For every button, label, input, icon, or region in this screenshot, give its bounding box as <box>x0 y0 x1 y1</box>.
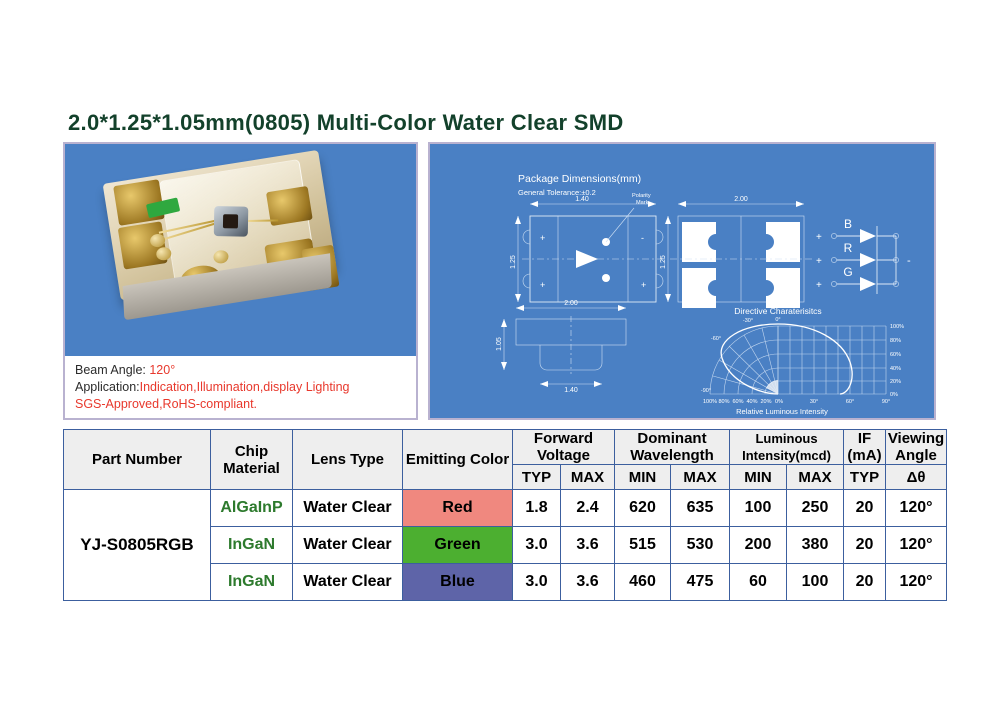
polar-angle-90: 90° <box>882 399 890 405</box>
subheader-if-typ: TYP <box>844 465 886 490</box>
polar-chart-xlabel: Relative Luminous Intensity <box>736 407 828 416</box>
cell-chip-material: InGaN <box>211 564 293 601</box>
cell-viewing-angle: 120° <box>886 564 947 601</box>
cell-dominant-wavelength-max: 530 <box>671 527 730 564</box>
polar-angle-60: 60° <box>846 399 854 405</box>
polar-pct-right-60: 60% <box>890 352 901 358</box>
subheader-li-min: MIN <box>730 465 787 490</box>
caption-beam-angle-label: Beam Angle: <box>75 363 149 377</box>
minus-mark-tr: - <box>641 233 644 243</box>
header-chip-material: Chip Material <box>211 430 293 490</box>
polarity-note-line2: Mark <box>636 200 649 206</box>
anode-plus-b: + <box>816 232 822 243</box>
diode-label-b: B <box>844 217 852 231</box>
header-viewing-angle: Viewing Angle <box>886 430 947 465</box>
datasheet-page: 2.0*1.25*1.05mm(0805) Multi-Color Water … <box>0 0 1000 720</box>
cell-viewing-angle: 120° <box>886 527 947 564</box>
cell-dominant-wavelength-min: 515 <box>615 527 671 564</box>
cell-forward-voltage-typ: 3.0 <box>513 564 561 601</box>
cell-part-number: YJ-S0805RGB <box>64 490 211 601</box>
diode-label-g: G <box>843 265 852 279</box>
bottom-view-height-dim: 1.25 <box>660 255 667 269</box>
led-package-image <box>103 150 342 332</box>
polar-pct-bottom-20: 20% <box>760 399 771 405</box>
caption-application-label: Application: <box>75 380 140 394</box>
table-header-row-1: Part Number Chip Material Lens Type Emit… <box>64 430 947 465</box>
top-view: + + + - Polarity Mark 1.40 <box>510 193 664 302</box>
header-if-ma: IF (mA) <box>844 430 886 465</box>
polar-pct-right-100: 100% <box>890 324 904 330</box>
side-view: 2.00 1.05 1.40 <box>496 300 626 394</box>
cell-viewing-angle: 120° <box>886 490 947 527</box>
cell-luminous-intensity-min: 60 <box>730 564 787 601</box>
cell-chip-material: AlGaInP <box>211 490 293 527</box>
subheader-fv-typ: TYP <box>513 465 561 490</box>
polar-pct-right-0: 0% <box>890 392 898 398</box>
side-view-height-dim: 1.05 <box>496 337 503 351</box>
header-forward-voltage: Forward Voltage <box>513 430 615 465</box>
schematic: + + + B R <box>816 217 911 294</box>
cell-if-typ: 20 <box>844 564 886 601</box>
subheader-fv-max: MAX <box>561 465 615 490</box>
cell-dominant-wavelength-max: 635 <box>671 490 730 527</box>
side-view-top-width-dim: 2.00 <box>564 300 578 307</box>
product-caption: Beam Angle: 120° Application:Indication,… <box>65 356 416 418</box>
cell-lens-type: Water Clear <box>293 490 403 527</box>
bottom-view-width-dim: 2.00 <box>734 196 748 203</box>
cell-forward-voltage-max: 2.4 <box>561 490 615 527</box>
cell-forward-voltage-typ: 1.8 <box>513 490 561 527</box>
polar-pct-bottom-0: 0% <box>775 399 783 405</box>
caption-application: Application:Indication,Illumination,disp… <box>75 379 416 396</box>
plus-mark-tl: + <box>540 233 545 243</box>
cell-luminous-intensity-min: 100 <box>730 490 787 527</box>
cell-emitting-color: Red <box>403 490 513 527</box>
header-dominant-wavelength: Dominant Wavelength <box>615 430 730 465</box>
caption-certifications: SGS-Approved,RoHS-compliant. <box>75 396 416 413</box>
product-photo <box>65 144 416 356</box>
directive-characteristics-chart: Directive Charaterisitcs <box>701 306 904 416</box>
subheader-dw-max: MAX <box>671 465 730 490</box>
cell-if-typ: 20 <box>844 490 886 527</box>
polarity-note-line1: Polarity <box>632 193 651 199</box>
polar-angle-minus-30: -30° <box>743 318 753 324</box>
header-part-number: Part Number <box>64 430 211 490</box>
cell-forward-voltage-max: 3.6 <box>561 527 615 564</box>
header-emitting-color: Emitting Color <box>403 430 513 490</box>
cell-forward-voltage-typ: 3.0 <box>513 527 561 564</box>
header-lens-type: Lens Type <box>293 430 403 490</box>
side-view-bottom-width-dim: 1.40 <box>564 387 578 394</box>
polar-pct-bottom-80: 80% <box>718 399 729 405</box>
cell-chip-material: InGaN <box>211 527 293 564</box>
polar-pct-bottom-100: 100% <box>703 399 717 405</box>
polar-pct-right-40: 40% <box>890 366 901 372</box>
top-view-width-dim: 1.40 <box>575 196 589 203</box>
plus-mark-bl: + <box>540 280 545 290</box>
polar-pct-bottom-40: 40% <box>746 399 757 405</box>
polar-pct-bottom-60: 60% <box>732 399 743 405</box>
cell-if-typ: 20 <box>844 527 886 564</box>
specification-table: Part Number Chip Material Lens Type Emit… <box>63 429 947 601</box>
polar-angle-minus-60: -60° <box>711 336 721 342</box>
cell-dominant-wavelength-min: 620 <box>615 490 671 527</box>
caption-application-value: Indication,Illumination,display Lighting <box>140 380 350 394</box>
product-photo-panel: Beam Angle: 120° Application:Indication,… <box>63 142 418 420</box>
caption-beam-angle: Beam Angle: 120° <box>75 362 416 379</box>
subheader-li-max: MAX <box>787 465 844 490</box>
cell-dominant-wavelength-min: 460 <box>615 564 671 601</box>
table-row: YJ-S0805RGBAlGaInPWater ClearRed1.82.462… <box>64 490 947 527</box>
plus-mark-br: + <box>641 280 646 290</box>
cell-dominant-wavelength-max: 475 <box>671 564 730 601</box>
bottom-view: 2.00 1.25 <box>660 196 812 308</box>
cell-luminous-intensity-max: 380 <box>787 527 844 564</box>
polar-pct-right-80: 80% <box>890 338 901 344</box>
cell-emitting-color: Green <box>403 527 513 564</box>
cell-emitting-color: Blue <box>403 564 513 601</box>
cell-forward-voltage-max: 3.6 <box>561 564 615 601</box>
header-luminous-intensity: Luminous Intensity(mcd) <box>730 430 844 465</box>
package-drawing-panel: Package Dimensions(mm) General Tolerance… <box>428 142 936 420</box>
anode-plus-g: + <box>816 280 822 291</box>
led-die <box>214 206 249 237</box>
diode-label-r: R <box>844 241 853 255</box>
caption-beam-angle-value: 120° <box>149 363 175 377</box>
cell-lens-type: Water Clear <box>293 564 403 601</box>
package-drawing-svg: Package Dimensions(mm) General Tolerance… <box>430 144 934 418</box>
cathode-minus: - <box>907 255 911 267</box>
drawing-heading: Package Dimensions(mm) <box>518 173 641 185</box>
subheader-viewing-angle-symbol: Δθ <box>886 465 947 490</box>
cell-lens-type: Water Clear <box>293 527 403 564</box>
cell-luminous-intensity-max: 250 <box>787 490 844 527</box>
cell-luminous-intensity-max: 100 <box>787 564 844 601</box>
polar-angle-30: 30° <box>810 399 818 405</box>
top-view-height-dim: 1.25 <box>510 255 517 269</box>
polar-angle-minus-90: -90° <box>701 388 711 394</box>
page-title: 2.0*1.25*1.05mm(0805) Multi-Color Water … <box>68 110 624 136</box>
polar-pct-right-20: 20% <box>890 379 901 385</box>
polar-chart-title: Directive Charaterisitcs <box>734 306 821 316</box>
polar-angle-0: 0° <box>775 317 780 323</box>
cell-luminous-intensity-min: 200 <box>730 527 787 564</box>
subheader-dw-min: MIN <box>615 465 671 490</box>
anode-plus-r: + <box>816 256 822 267</box>
